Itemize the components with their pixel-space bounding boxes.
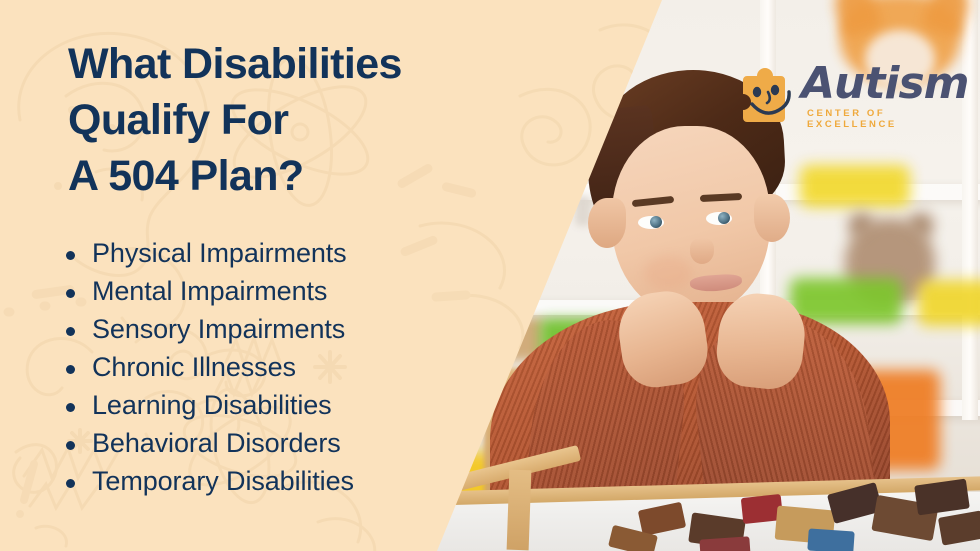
- puzzle-piece: [699, 536, 750, 551]
- puzzle-piece: [807, 528, 854, 551]
- page-title: What Disabilities Qualify For A 504 Plan…: [68, 37, 568, 205]
- poster-canvas: What Disabilities Qualify For A 504 Plan…: [0, 0, 980, 551]
- cheek: [644, 256, 692, 290]
- right-ear: [754, 194, 790, 242]
- list-item: Physical Impairments: [60, 234, 480, 272]
- left-ear: [588, 198, 626, 248]
- iris: [650, 216, 662, 228]
- logo-tagline: CENTER OF EXCELLENCE: [807, 108, 938, 130]
- list-item: Learning Disabilities: [60, 386, 480, 424]
- list-item: Chronic Illnesses: [60, 348, 480, 386]
- qualifying-disabilities-list: Physical Impairments Mental Impairments …: [60, 234, 480, 500]
- list-item: Sensory Impairments: [60, 310, 480, 348]
- yellow-bin: [918, 280, 980, 326]
- list-item: Behavioral Disorders: [60, 424, 480, 462]
- nose: [690, 238, 714, 264]
- list-item: Mental Impairments: [60, 272, 480, 310]
- brand-logo[interactable]: Autism CENTER OF EXCELLENCE: [723, 62, 938, 134]
- desk-wood-corner: [507, 470, 532, 551]
- puzzle-piece-smiley-icon: [723, 62, 795, 128]
- list-item: Temporary Disabilities: [60, 462, 480, 500]
- iris: [718, 212, 730, 224]
- logo-wordmark: Autism: [801, 58, 969, 109]
